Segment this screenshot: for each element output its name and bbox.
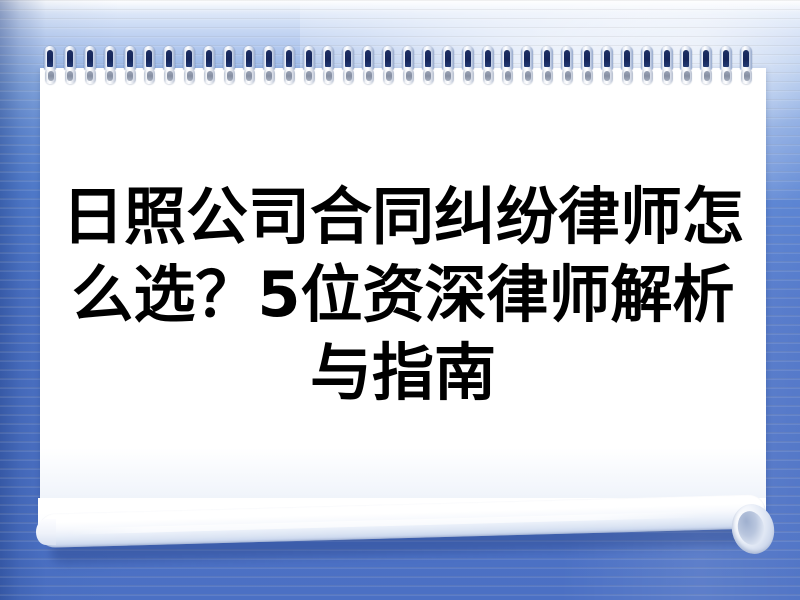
spiral-ring-hole	[186, 50, 192, 67]
spiral-ring-hole	[743, 50, 749, 67]
spiral-ring-hole	[604, 50, 610, 67]
spiral-ring	[362, 46, 374, 84]
spiral-ring	[402, 46, 414, 84]
spiral-ring-wire	[44, 46, 56, 70]
spiral-ring	[422, 46, 434, 84]
spiral-ring-loop-inner	[246, 71, 252, 81]
spiral-ring-wire	[661, 46, 673, 70]
spiral-ring-hole	[166, 50, 172, 67]
spiral-ring-loop-inner	[366, 71, 372, 81]
spiral-ring-loop-inner	[107, 71, 113, 81]
spiral-ring-loop-inner	[604, 71, 610, 81]
spiral-ring-loop-inner	[48, 71, 54, 81]
spiral-ring-hole	[246, 50, 252, 67]
spiral-ring-wire	[124, 46, 136, 70]
spiral-ring-wire	[143, 46, 155, 70]
spiral-ring-wire	[283, 46, 295, 70]
spiral-ring	[680, 46, 692, 84]
spiral-ring-loop	[483, 68, 494, 84]
spiral-ring	[163, 46, 175, 84]
spiral-ring-loop	[463, 68, 474, 84]
spiral-ring-loop	[45, 68, 56, 84]
spiral-ring-hole	[703, 50, 709, 67]
spiral-ring-wire	[541, 46, 553, 70]
spiral-ring-loop	[403, 68, 414, 84]
spiral-ring-wire	[342, 46, 354, 70]
spiral-ring-loop-inner	[386, 71, 392, 81]
spiral-ring-loop-inner	[465, 71, 471, 81]
spiral-ring-loop-inner	[525, 71, 531, 81]
spiral-ring	[501, 46, 513, 84]
spiral-ring	[601, 46, 613, 84]
spiral-ring-loop-inner	[87, 71, 93, 81]
spiral-ring-hole	[146, 50, 152, 67]
spiral-ring-wire	[183, 46, 195, 70]
spiral-ring-wire	[621, 46, 633, 70]
spiral-ring-hole	[664, 50, 670, 67]
spiral-ring-loop	[264, 68, 275, 84]
spiral-ring-wire	[422, 46, 434, 70]
spiral-ring-wire	[740, 46, 752, 70]
spiral-ring-loop	[562, 68, 573, 84]
spiral-ring-hole	[723, 50, 729, 67]
spiral-ring-loop	[284, 68, 295, 84]
spiral-ring-hole	[385, 50, 391, 67]
spiral-ring-hole	[47, 50, 53, 67]
spiral-ring-hole	[226, 50, 232, 67]
spiral-ring-hole	[624, 50, 630, 67]
spiral-ring	[203, 46, 215, 84]
spiral-ring	[322, 46, 334, 84]
spiral-ring-wire	[382, 46, 394, 70]
spiral-ring-loop-inner	[664, 71, 670, 81]
spiral-ring-loop-inner	[744, 71, 750, 81]
spiral-ring-loop	[363, 68, 374, 84]
spiral-ring-hole	[524, 50, 530, 67]
spiral-ring-wire	[203, 46, 215, 70]
spiral-ring-wire	[581, 46, 593, 70]
spiral-ring-wire	[680, 46, 692, 70]
spiral-ring-loop-inner	[704, 71, 710, 81]
spiral-ring-loop-inner	[207, 71, 213, 81]
spiral-ring-hole	[584, 50, 590, 67]
spiral-ring-loop	[65, 68, 76, 84]
spiral-ring-loop	[323, 68, 334, 84]
spiral-ring-wire	[322, 46, 334, 70]
spiral-ring	[482, 46, 494, 84]
spiral-ring	[104, 46, 116, 84]
spiral-ring-loop	[244, 68, 255, 84]
spiral-ring	[223, 46, 235, 84]
page-curl	[38, 498, 774, 574]
spiral-ring-loop	[304, 68, 315, 84]
page-title: 日照公司合同纠纷律师怎么选？5位资深律师解析与指南	[56, 178, 750, 412]
spiral-ring-hole	[206, 50, 212, 67]
spiral-ring-hole	[365, 50, 371, 67]
spiral-ring-loop	[582, 68, 593, 84]
spiral-ring-wire	[402, 46, 414, 70]
spiral-ring-loop-inner	[326, 71, 332, 81]
spiral-ring	[541, 46, 553, 84]
spiral-ring-loop-inner	[624, 71, 630, 81]
spiral-ring-loop-inner	[187, 71, 193, 81]
spiral-ring-loop	[343, 68, 354, 84]
spiral-ring-loop	[701, 68, 712, 84]
spiral-ring-wire	[163, 46, 175, 70]
spiral-ring-loop-inner	[147, 71, 153, 81]
spiral-ring-loop-inner	[585, 71, 591, 81]
spiral-ring-hole	[107, 50, 113, 67]
spiral-ring-hole	[425, 50, 431, 67]
spiral-ring-loop	[443, 68, 454, 84]
spiral-ring	[124, 46, 136, 84]
spiral-ring-wire	[84, 46, 96, 70]
spiral-ring-loop-inner	[644, 71, 650, 81]
spiral-ring-wire	[720, 46, 732, 70]
spiral-ring-loop-inner	[127, 71, 133, 81]
spiral-ring-loop-inner	[306, 71, 312, 81]
spiral-ring-loop	[105, 68, 116, 84]
spiral-ring-loop-inner	[425, 71, 431, 81]
spiral-ring-loop-inner	[346, 71, 352, 81]
spiral-ring-loop	[383, 68, 394, 84]
spiral-ring-hole	[644, 50, 650, 67]
spiral-ring-loop	[662, 68, 673, 84]
spiral-ring-loop-inner	[445, 71, 451, 81]
spiral-ring-hole	[485, 50, 491, 67]
spiral-ring-loop	[164, 68, 175, 84]
spiral-ring-loop	[721, 68, 732, 84]
spiral-binding	[40, 46, 766, 88]
spiral-ring-hole	[504, 50, 510, 67]
spiral-ring-wire	[462, 46, 474, 70]
spiral-ring-hole	[87, 50, 93, 67]
spiral-ring-hole	[445, 50, 451, 67]
spiral-ring-hole	[266, 50, 272, 67]
spiral-ring-loop	[85, 68, 96, 84]
spiral-ring-wire	[263, 46, 275, 70]
spiral-ring-loop-inner	[167, 71, 173, 81]
spiral-ring-wire	[521, 46, 533, 70]
spiral-ring-wire	[104, 46, 116, 70]
spiral-ring-wire	[482, 46, 494, 70]
spiral-ring-loop	[681, 68, 692, 84]
spiral-ring-wire	[223, 46, 235, 70]
spiral-ring	[303, 46, 315, 84]
spiral-ring	[700, 46, 712, 84]
spiral-ring	[382, 46, 394, 84]
spiral-ring-loop-inner	[505, 71, 511, 81]
spiral-ring-loop-inner	[545, 71, 551, 81]
spiral-ring-loop-inner	[286, 71, 292, 81]
spiral-ring-loop-inner	[485, 71, 491, 81]
spiral-ring-wire	[362, 46, 374, 70]
spiral-ring-loop	[184, 68, 195, 84]
spiral-ring-wire	[442, 46, 454, 70]
spiral-ring	[462, 46, 474, 84]
spiral-ring	[263, 46, 275, 84]
spiral-ring-wire	[641, 46, 653, 70]
spiral-ring	[84, 46, 96, 84]
spiral-ring-hole	[544, 50, 550, 67]
spiral-ring-loop-inner	[67, 71, 73, 81]
spiral-ring-wire	[561, 46, 573, 70]
spiral-ring	[64, 46, 76, 84]
spiral-ring-hole	[67, 50, 73, 67]
spiral-ring-hole	[465, 50, 471, 67]
spiral-ring-loop-inner	[565, 71, 571, 81]
spiral-ring	[740, 46, 752, 84]
spiral-ring-wire	[601, 46, 613, 70]
spiral-ring-hole	[405, 50, 411, 67]
page-curl-left-end	[36, 519, 56, 545]
spiral-ring	[581, 46, 593, 84]
spiral-ring-loop	[602, 68, 613, 84]
spiral-ring-loop	[642, 68, 653, 84]
spiral-ring-loop	[542, 68, 553, 84]
spiral-ring	[243, 46, 255, 84]
spiral-ring-loop-inner	[266, 71, 272, 81]
spiral-ring-loop	[522, 68, 533, 84]
spiral-ring-hole	[286, 50, 292, 67]
spiral-ring-loop	[224, 68, 235, 84]
spiral-ring-hole	[306, 50, 312, 67]
spiral-ring-loop	[622, 68, 633, 84]
spiral-ring-loop-inner	[684, 71, 690, 81]
spiral-ring	[183, 46, 195, 84]
spiral-ring	[521, 46, 533, 84]
spiral-ring-loop	[204, 68, 215, 84]
spiral-ring-hole	[683, 50, 689, 67]
spiral-ring	[621, 46, 633, 84]
spiral-ring	[283, 46, 295, 84]
spiral-ring-loop	[502, 68, 513, 84]
spiral-ring-hole	[127, 50, 133, 67]
spiral-ring-wire	[243, 46, 255, 70]
spiral-ring-loop	[423, 68, 434, 84]
spiral-ring-wire	[700, 46, 712, 70]
spiral-ring-loop	[741, 68, 752, 84]
spiral-ring	[561, 46, 573, 84]
spiral-ring-wire	[501, 46, 513, 70]
spiral-ring-hole	[345, 50, 351, 67]
spiral-ring-hole	[325, 50, 331, 67]
spiral-ring	[720, 46, 732, 84]
spiral-ring	[143, 46, 155, 84]
spiral-ring	[442, 46, 454, 84]
spiral-ring-loop	[125, 68, 136, 84]
spiral-ring	[342, 46, 354, 84]
spiral-ring-loop-inner	[724, 71, 730, 81]
spiral-ring	[661, 46, 673, 84]
spiral-ring-wire	[64, 46, 76, 70]
spiral-ring-wire	[303, 46, 315, 70]
spiral-ring	[44, 46, 56, 84]
spiral-ring-hole	[564, 50, 570, 67]
poster-canvas: 日照公司合同纠纷律师怎么选？5位资深律师解析与指南	[0, 0, 800, 600]
spiral-ring-loop-inner	[406, 71, 412, 81]
spiral-ring-loop-inner	[227, 71, 233, 81]
spiral-ring	[641, 46, 653, 84]
spiral-ring-loop	[144, 68, 155, 84]
